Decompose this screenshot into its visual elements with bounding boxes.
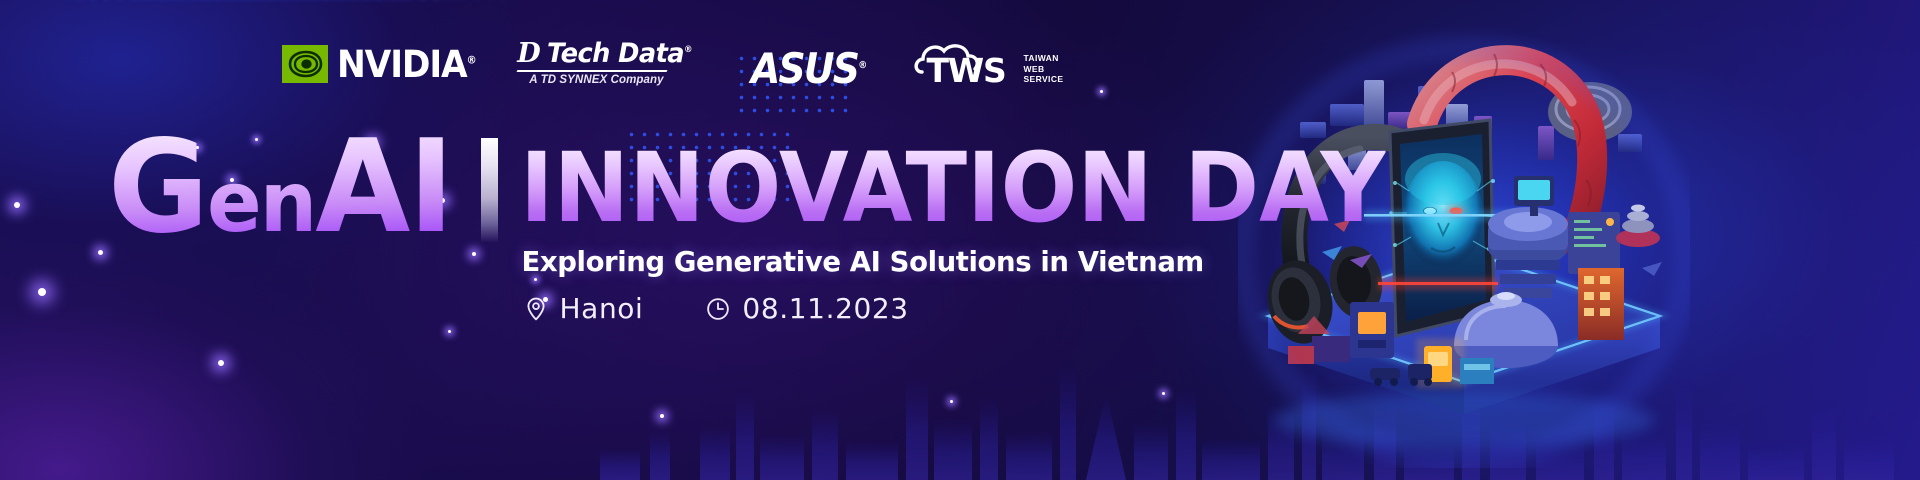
event-date-label: 08.11.2023 [742,295,908,323]
genai-brand-wordmark: GenAI [108,134,452,256]
binary-column-4: 1 1 0 0 1 0 1 0 0 1 0 1 1 0 0 1 0 1 1 0 … [172,0,510,3]
tws-tagline-line-2: WEB [1023,64,1044,74]
nvidia-trademark: ® [467,53,477,66]
logo-asus[interactable]: ASUS® [751,34,878,94]
binary-column-1: 1 0 0 1 0 0 1 0 1 1 0 1 0 0 1 0 1 1 0 0 … [44,0,409,3]
genai-small-caps: en [207,153,315,251]
logo-tws[interactable]: TWS TAIWAN WEB SERVICE [912,34,1063,94]
innovation-block: INNOVATION DAY Exploring Generative AI S… [520,134,1441,323]
logo-nvidia[interactable]: NVIDIA® [282,34,487,94]
binary-column-5: 0 1 1 0 1 0 0 1 0 1 1 0 0 0 1 0 1 1 0 [206,0,463,3]
asus-wordmark: ASUS® [751,48,865,90]
binary-column-2: 0 0 1 0 1 1 0 1 0 0 1 0 1 1 0 0 1 0 1 1 … [72,0,410,4]
tws-tagline: TAIWAN WEB SERVICE [1023,43,1063,85]
page-subtitle: Exploring Generative AI Solutions in Vie… [522,246,1441,278]
headline-block: GenAI INNOVATION DAY Exploring Generativ… [108,134,1440,323]
techdata-underline-rule [517,70,668,72]
logo-techdata[interactable]: D Tech Data® A TD SYNNEX Company [517,34,699,94]
event-location: Hanoi [523,295,644,323]
tws-tagline-line-3: SERVICE [1023,74,1063,84]
techdata-wordmark: Tech Data® [547,40,692,67]
tws-tagline-line-1: TAIWAN [1023,53,1058,63]
tws-wordmark: TWS [926,54,1005,87]
nvidia-wordmark: NVIDIA® [337,46,477,83]
sparkle-1 [14,202,20,208]
event-date: 08.11.2023 [705,295,908,323]
event-meta-row: Hanoi 08.11.2023 [523,295,1441,323]
sparkle-16 [1162,392,1165,395]
sparkle-15 [950,400,953,403]
genai-innovation-day-banner: 1 0 0 1 0 0 1 0 1 1 0 1 0 0 1 0 1 1 0 0 … [0,0,1920,480]
genai-lead: G [108,113,207,262]
techdata-monogram: D [517,40,539,67]
page-title: INNOVATION DAY [520,142,1386,234]
location-pin-icon [523,296,549,322]
sparkle-17 [1100,90,1103,93]
event-location-label: Hanoi [560,295,644,323]
vertical-divider-bar [481,138,498,242]
sparkle-14 [660,414,664,418]
partner-logo-row: NVIDIA® D Tech Data® A TD SYNNEX Company… [282,34,1063,94]
asus-trademark: ® [859,60,866,71]
nvidia-eye-icon [282,45,328,83]
techdata-trademark: ® [684,45,692,55]
binary-column-3: 1 0 0 1 0 0 1 1 1 0 0 0 1 0 1 1 0 1 0 0 … [132,0,443,4]
genai-tail: AI [315,113,452,262]
sparkle-7 [218,360,224,366]
title-line: GenAI INNOVATION DAY Exploring Generativ… [108,134,1440,323]
sparkle-2 [98,250,103,255]
techdata-tagline: A TD SYNNEX Company [529,74,663,86]
sparkle-10 [448,330,451,333]
clock-icon [705,296,731,322]
sparkle-3 [38,288,46,296]
tws-mark: TWS [912,38,1016,90]
